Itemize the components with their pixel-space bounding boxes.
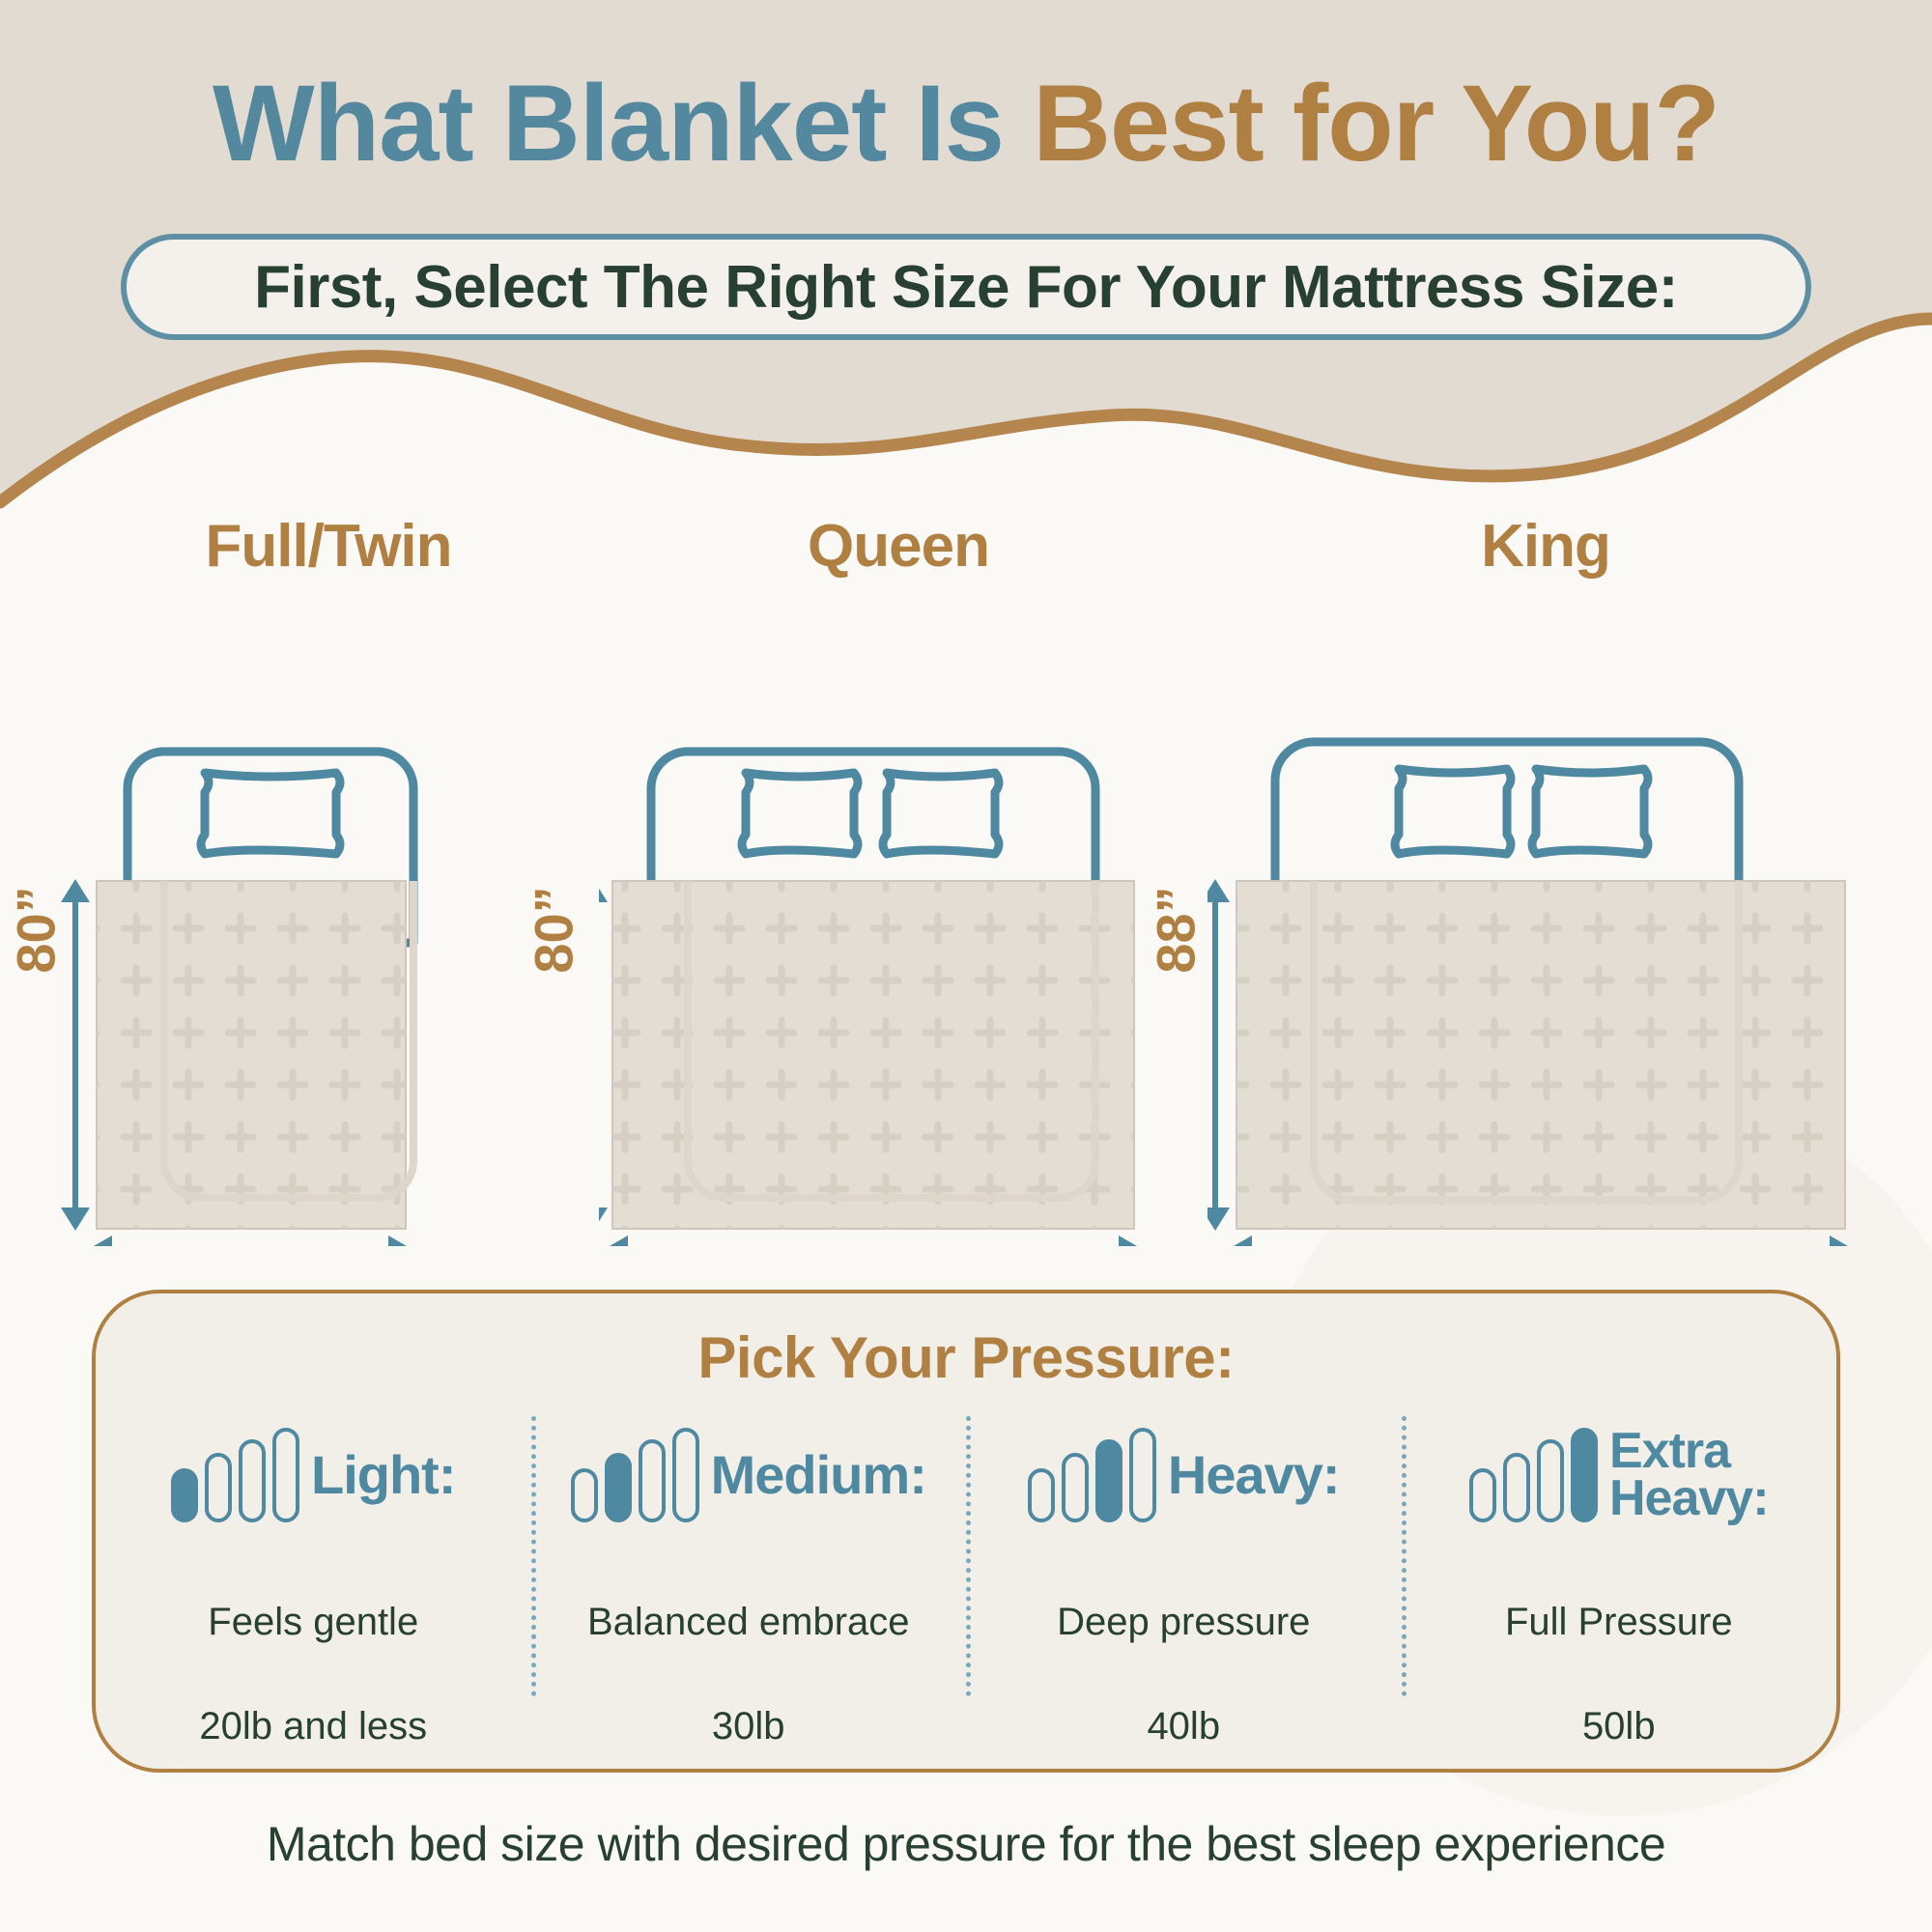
pressure-bar-1 — [171, 1468, 198, 1522]
pressure-desc-line2-light: 20lb and less — [199, 1705, 427, 1747]
footer-note: Match bed size with desired pressure for… — [0, 1816, 1932, 1872]
pressure-desc-line1-light: Feels gentle — [208, 1601, 418, 1643]
pressure-bar-3 — [1095, 1439, 1122, 1522]
pressure-bars-icon — [1469, 1428, 1598, 1522]
bed-height-label-queen: 80” — [523, 886, 585, 973]
dimension-arrow-vertical-icon — [1207, 879, 1230, 1231]
pressure-level-label-light: Light: — [311, 1449, 455, 1500]
pressure-level-extra-heavy[interactable]: Extra Heavy: Full Pressure 50lb — [1402, 1424, 1837, 1752]
blanket-icon — [97, 881, 413, 1229]
pillow-icon — [742, 773, 858, 854]
bed-diagram-king — [1207, 589, 1884, 1246]
pressure-levels-list: Light: Feels gentle 20lb and less Medium… — [96, 1424, 1836, 1752]
pressure-desc-line1-medium: Balanced embrace — [587, 1601, 910, 1643]
pressure-selector-card: Pick Your Pressure: Light: Feels gentle … — [92, 1290, 1840, 1773]
pressure-bar-2 — [205, 1453, 232, 1522]
pressure-level-heavy[interactable]: Heavy: Deep pressure 40lb — [966, 1424, 1402, 1752]
pressure-bar-4 — [1129, 1428, 1156, 1522]
pressure-bar-1 — [571, 1468, 598, 1522]
pressure-bar-2 — [1062, 1453, 1089, 1522]
pressure-level-label-heavy: Heavy: — [1168, 1449, 1340, 1500]
pressure-desc-line2-extra-heavy: 50lb — [1582, 1705, 1656, 1747]
pressure-desc-line1-extra-heavy: Full Pressure — [1505, 1601, 1733, 1643]
pressure-bars-icon — [571, 1428, 699, 1522]
pressure-level-label-medium: Medium: — [711, 1449, 926, 1500]
pressure-bars-icon — [1028, 1428, 1156, 1522]
bed-diagram-full-twin — [58, 589, 599, 1246]
pressure-level-desc-heavy: Deep pressure 40lb — [1057, 1544, 1310, 1752]
bed-height-label-full-twin: 80” — [5, 886, 68, 973]
pressure-level-desc-light: Feels gentle 20lb and less — [199, 1544, 427, 1752]
pressure-level-desc-medium: Balanced embrace 30lb — [587, 1544, 910, 1752]
pressure-bar-3 — [239, 1439, 266, 1522]
pillow-icon — [1395, 769, 1511, 854]
pressure-card-title: Pick Your Pressure: — [96, 1324, 1836, 1391]
pressure-bar-1 — [1469, 1468, 1496, 1522]
dimension-arrow-horizontal-icon — [1227, 1236, 1855, 1246]
pillow-icon — [201, 773, 340, 854]
bed-size-label-full-twin: Full/Twin — [58, 512, 599, 581]
bed-height-label-king: 88” — [1145, 886, 1207, 973]
dimension-arrow-horizontal-icon — [87, 1236, 413, 1246]
pressure-level-light[interactable]: Light: Feels gentle 20lb and less — [96, 1424, 531, 1752]
bed-size-diagrams: Full/Twin — [0, 541, 1932, 1246]
pressure-level-label-extra-heavy: Extra Heavy: — [1609, 1428, 1769, 1523]
pillow-icon — [1532, 769, 1648, 854]
pressure-bar-1 — [1028, 1468, 1055, 1522]
pressure-bar-4 — [272, 1428, 299, 1522]
pressure-bar-3 — [639, 1439, 666, 1522]
pressure-bar-4 — [1571, 1428, 1598, 1522]
page-title: What Blanket Is Best for You? — [0, 70, 1932, 178]
pressure-bar-3 — [1537, 1439, 1564, 1522]
pressure-desc-line1-heavy: Deep pressure — [1057, 1601, 1310, 1643]
dimension-arrow-horizontal-icon — [603, 1236, 1144, 1246]
subtitle-text: First, Select The Right Size For Your Ma… — [254, 253, 1678, 322]
pressure-desc-line2-heavy: 40lb — [1147, 1705, 1220, 1747]
dimension-arrow-vertical-icon — [599, 879, 608, 1231]
bed-size-label-king: King — [1207, 512, 1884, 581]
pressure-bar-2 — [605, 1453, 632, 1522]
bed-size-label-queen: Queen — [599, 512, 1198, 581]
subtitle-banner: First, Select The Right Size For Your Ma… — [121, 234, 1811, 340]
pressure-bar-2 — [1503, 1453, 1530, 1522]
pressure-level-desc-extra-heavy: Full Pressure 50lb — [1505, 1544, 1733, 1752]
pressure-bar-4 — [672, 1428, 699, 1522]
page-title-part-2: Best for You? — [1033, 63, 1719, 184]
pressure-bars-icon — [171, 1428, 299, 1522]
pressure-desc-line2-medium: 30lb — [712, 1705, 785, 1747]
pressure-level-medium[interactable]: Medium: Balanced embrace 30lb — [531, 1424, 967, 1752]
blanket-icon — [612, 881, 1134, 1229]
blanket-icon — [1236, 881, 1845, 1229]
pillow-icon — [883, 773, 999, 854]
bed-diagram-queen — [599, 589, 1198, 1246]
page-title-part-1: What Blanket Is — [213, 63, 1033, 184]
